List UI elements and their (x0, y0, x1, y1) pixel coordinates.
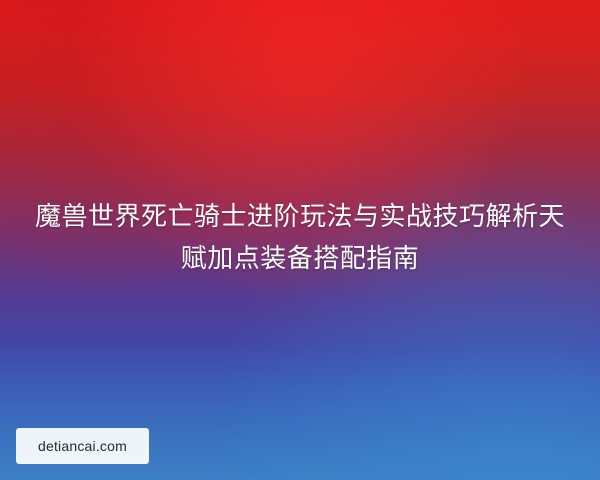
site-watermark: detiancai.com (16, 428, 149, 464)
page-title: 魔兽世界死亡骑士进阶玩法与实战技巧解析天赋加点装备搭配指南 (0, 195, 600, 279)
banner-image: 魔兽世界死亡骑士进阶玩法与实战技巧解析天赋加点装备搭配指南 detiancai.… (0, 0, 600, 480)
